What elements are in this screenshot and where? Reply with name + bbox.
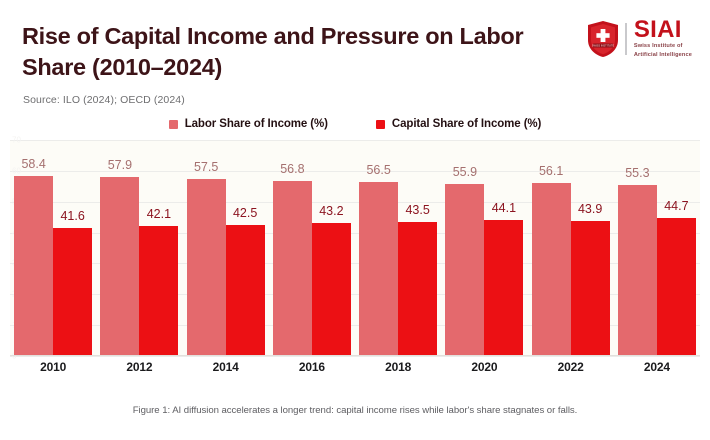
bar-labor-2024[interactable]: 55.3 (618, 185, 657, 356)
bar-group: 56.143.9 (528, 140, 614, 356)
x-axis-tick-2012: 2012 (96, 360, 182, 374)
legend-item-capital[interactable]: Capital Share of Income (%) (376, 118, 541, 130)
bar-value-label: 42.5 (233, 206, 257, 220)
bar-value-label: 43.9 (578, 202, 602, 216)
bar-labor-2012[interactable]: 57.9 (100, 177, 139, 356)
bar-labor-2014[interactable]: 57.5 (187, 179, 226, 356)
bar-group: 56.543.5 (355, 140, 441, 356)
bar-group: 55.344.7 (614, 140, 700, 356)
bar-value-label: 57.9 (108, 158, 132, 172)
bar-labor-2016[interactable]: 56.8 (273, 181, 312, 356)
logo-wordmark: SIAI (634, 19, 692, 41)
logo-subtitle-line1: Swiss Institute of (634, 43, 692, 50)
bar-value-label: 43.2 (319, 204, 343, 218)
x-axis-tick-2010: 2010 (10, 360, 96, 374)
bar-labor-2018[interactable]: 56.5 (359, 182, 398, 356)
bar-value-label: 56.5 (366, 163, 390, 177)
bar-value-label: 44.7 (664, 199, 688, 213)
bar-capital-2016[interactable]: 43.2 (312, 223, 351, 356)
bar-group: 57.542.5 (183, 140, 269, 356)
legend-swatch-labor (169, 120, 178, 129)
bar-capital-2014[interactable]: 42.5 (226, 225, 265, 356)
x-axis-line (10, 355, 700, 356)
legend-label-labor: Labor Share of Income (%) (185, 118, 328, 130)
chart-header: Rise of Capital Income and Pressure on L… (0, 0, 710, 113)
bar-value-label: 55.3 (625, 166, 649, 180)
legend-label-capital: Capital Share of Income (%) (392, 118, 541, 130)
chart-legend: Labor Share of Income (%) Capital Share … (0, 118, 710, 130)
x-axis-labels: 20102012201420162018202020222024 (10, 360, 700, 374)
bar-value-label: 58.4 (21, 157, 45, 171)
bar-value-label: 42.1 (147, 207, 171, 221)
bar-labor-2022[interactable]: 56.1 (532, 183, 571, 356)
bar-groups: 58.441.657.942.157.542.556.843.256.543.5… (10, 140, 700, 356)
legend-swatch-capital (376, 120, 385, 129)
logo-text: SIAI Swiss Institute of Artificial Intel… (634, 19, 692, 59)
logo-divider (625, 23, 627, 55)
chart-page: Rise of Capital Income and Pressure on L… (0, 0, 710, 440)
shield-icon: SWISS INSTITUTE (586, 20, 620, 58)
bar-group: 55.944.1 (441, 140, 527, 356)
bar-value-label: 41.6 (60, 209, 84, 223)
bar-labor-2020[interactable]: 55.9 (445, 184, 484, 356)
bar-capital-2018[interactable]: 43.5 (398, 222, 437, 356)
chart-plot-area: 010203040506070 58.441.657.942.157.542.5… (10, 140, 700, 356)
bar-value-label: 55.9 (453, 165, 477, 179)
bar-value-label: 56.1 (539, 164, 563, 178)
bar-group: 57.942.1 (96, 140, 182, 356)
page-title: Rise of Capital Income and Pressure on L… (22, 21, 542, 83)
bar-value-label: 43.5 (405, 203, 429, 217)
bar-capital-2012[interactable]: 42.1 (139, 226, 178, 356)
bar-labor-2010[interactable]: 58.4 (14, 176, 53, 356)
svg-text:SWISS INSTITUTE: SWISS INSTITUTE (592, 44, 615, 48)
bar-value-label: 56.8 (280, 162, 304, 176)
logo-subtitle-line2: Artificial Intelligence (634, 52, 692, 59)
x-axis-tick-2018: 2018 (355, 360, 441, 374)
x-axis-tick-2014: 2014 (183, 360, 269, 374)
bar-value-label: 57.5 (194, 160, 218, 174)
x-axis-tick-2016: 2016 (269, 360, 355, 374)
bar-capital-2024[interactable]: 44.7 (657, 218, 696, 356)
bar-capital-2020[interactable]: 44.1 (484, 220, 523, 356)
x-axis-tick-2024: 2024 (614, 360, 700, 374)
bar-group: 56.843.2 (269, 140, 355, 356)
gridline (10, 356, 700, 357)
bar-capital-2010[interactable]: 41.6 (53, 228, 92, 356)
figure-caption: Figure 1: AI diffusion accelerates a lon… (0, 405, 710, 416)
siai-logo: SWISS INSTITUTE SIAI Swiss Institute of … (586, 18, 692, 60)
x-axis-tick-2022: 2022 (528, 360, 614, 374)
bar-value-label: 44.1 (492, 201, 516, 215)
source-note: Source: ILO (2024); OECD (2024) (23, 94, 185, 106)
bar-capital-2022[interactable]: 43.9 (571, 221, 610, 356)
bar-group: 58.441.6 (10, 140, 96, 356)
x-axis-tick-2020: 2020 (441, 360, 527, 374)
legend-item-labor[interactable]: Labor Share of Income (%) (169, 118, 328, 130)
